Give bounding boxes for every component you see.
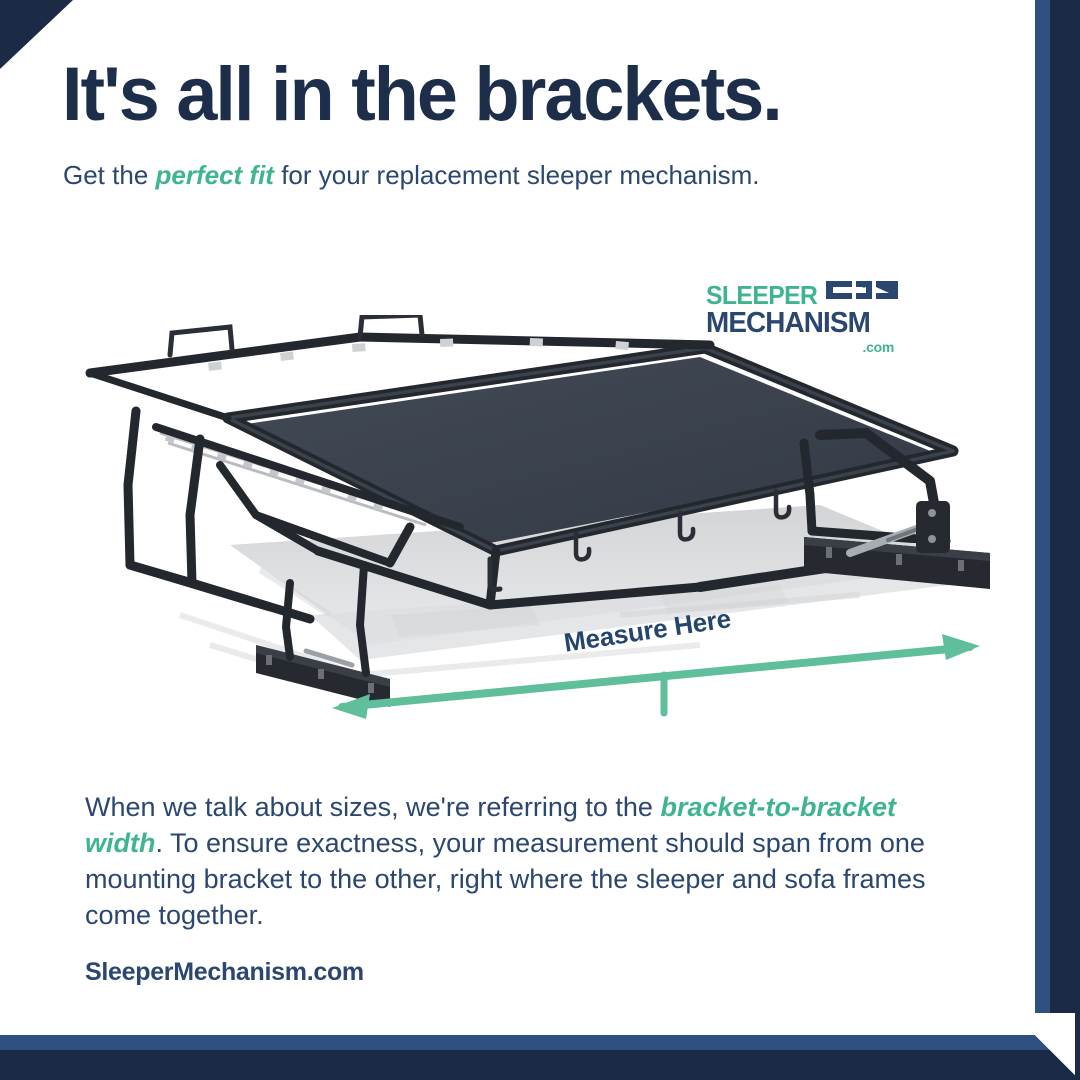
sofa-bed-mark-icon <box>826 278 898 307</box>
subtitle: Get the perfect fit for your replacement… <box>63 158 760 192</box>
subtitle-accent: perfect fit <box>156 160 274 190</box>
subtitle-part-1: Get the <box>63 160 156 190</box>
measure-arrow <box>342 647 970 707</box>
body-line-2: . To ensure exactness, your measurement … <box>85 828 925 930</box>
page-title: It's all in the brackets. <box>62 54 781 136</box>
bottom-right-triangle <box>1013 1013 1075 1075</box>
poster-canvas: It's all in the brackets. Get the perfec… <box>0 0 1080 1080</box>
right-border-bar <box>1050 0 1080 1080</box>
measure-arrow-head-right <box>942 634 980 660</box>
product-photo <box>60 315 990 735</box>
logo-top-row: SLEEPER <box>706 281 902 308</box>
logo-word-sleeper: SLEEPER <box>706 282 817 308</box>
bottom-border-bar <box>0 1050 1080 1080</box>
footer-website-url[interactable]: SleeperMechanism.com <box>85 958 364 987</box>
bottom-accent-stripe <box>0 1035 1050 1050</box>
right-accent-stripe <box>1035 0 1050 1050</box>
sleeper-mechanism-illustration <box>60 315 990 735</box>
body-paragraph: When we talk about sizes, we're referrin… <box>85 789 965 933</box>
subtitle-part-2: for your replacement sleeper mechanism. <box>274 160 760 190</box>
body-line-1: When we talk about sizes, we're referrin… <box>85 792 653 822</box>
measure-arrow-head-left <box>332 694 370 719</box>
